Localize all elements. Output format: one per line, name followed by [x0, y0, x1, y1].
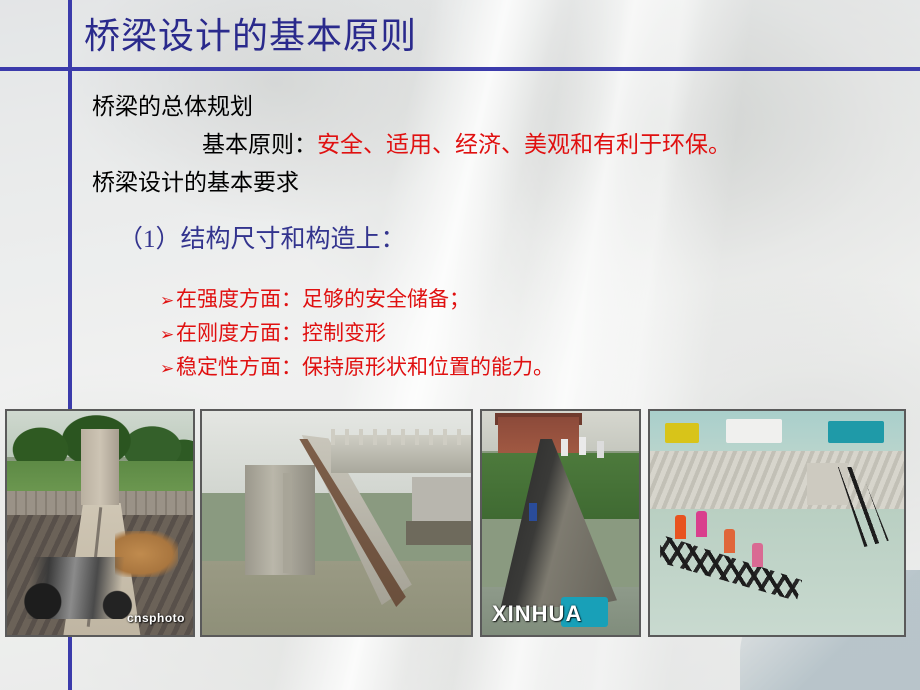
photo-tilted-road-embankment-collapse: XINHUA: [480, 409, 641, 637]
bystander-figure: [597, 441, 604, 458]
excavator: [665, 423, 699, 443]
bridge-railing: [331, 429, 473, 445]
list-item-label: 在刚度方面：控制变形: [176, 321, 386, 345]
bridge-pier: [245, 465, 315, 575]
bridge-pier: [81, 429, 118, 505]
rescue-worker-figure: [724, 529, 735, 553]
slide-canvas: 桥梁设计的基本原则 桥梁的总体规划 基本原则：安全、适用、经济、美观和有利于环保…: [0, 0, 920, 690]
photo-scene: [7, 411, 193, 635]
line-overall-plan: 桥梁的总体规划: [92, 88, 920, 126]
dump-truck: [828, 421, 884, 443]
worker-figure: [529, 503, 537, 521]
list-item-label: 在强度方面：足够的安全储备；: [176, 287, 470, 311]
rescue-worker-figure: [752, 543, 763, 567]
riverside-building: [412, 477, 471, 521]
principle-value: 安全、适用、经济、美观和有利于环保。: [317, 132, 731, 157]
bystander-figure: [561, 439, 568, 456]
photo-scene: [650, 411, 904, 635]
list-item-label: 稳定性方面：保持原形状和位置的能力。: [176, 355, 554, 379]
principle-label: 基本原则：: [202, 132, 317, 157]
wrecked-motorcycle: [18, 557, 156, 619]
arrow-bullet-icon: ➢: [160, 284, 176, 317]
arrow-bullet-icon: ➢: [160, 352, 176, 385]
photo-collapsed-rural-bridge-with-motorcycle: cnsphoto: [5, 409, 195, 637]
rescue-worker-figure: [675, 515, 686, 539]
body-text-block: 桥梁的总体规划 基本原则：安全、适用、经济、美观和有利于环保。 桥梁设计的基本要…: [0, 88, 920, 202]
bystander-figure: [579, 437, 586, 455]
arrow-bullet-icon: ➢: [160, 318, 176, 351]
line-basic-principle: 基本原则：安全、适用、经济、美观和有利于环保。: [92, 126, 920, 164]
subheading-structure-dimensions: （1）结构尺寸和构造上：: [118, 220, 406, 260]
river-band: [202, 561, 471, 637]
photo-collapsed-concrete-span-over-river: [200, 409, 473, 637]
list-item: ➢在刚度方面：控制变形: [160, 317, 554, 351]
bullet-list: ➢在强度方面：足够的安全储备； ➢在刚度方面：控制变形 ➢稳定性方面：保持原形状…: [160, 283, 554, 385]
list-item: ➢在强度方面：足够的安全储备；: [160, 283, 554, 317]
photo-steel-truss-bridge-collapse-in-rapids: [648, 409, 906, 637]
bridge-column: [283, 473, 292, 573]
horizontal-rule: [0, 67, 920, 71]
photo-scene: [202, 411, 471, 635]
line-basic-requirements: 桥梁设计的基本要求: [92, 164, 920, 202]
rescue-worker-figure: [696, 511, 707, 537]
concrete-mixer-truck: [726, 419, 782, 443]
page-title: 桥梁设计的基本原则: [84, 12, 417, 60]
barge: [406, 521, 471, 545]
photo-watermark: cnsphoto: [127, 611, 185, 625]
list-item: ➢稳定性方面：保持原形状和位置的能力。: [160, 351, 554, 385]
photo-watermark: XINHUA: [492, 601, 582, 627]
